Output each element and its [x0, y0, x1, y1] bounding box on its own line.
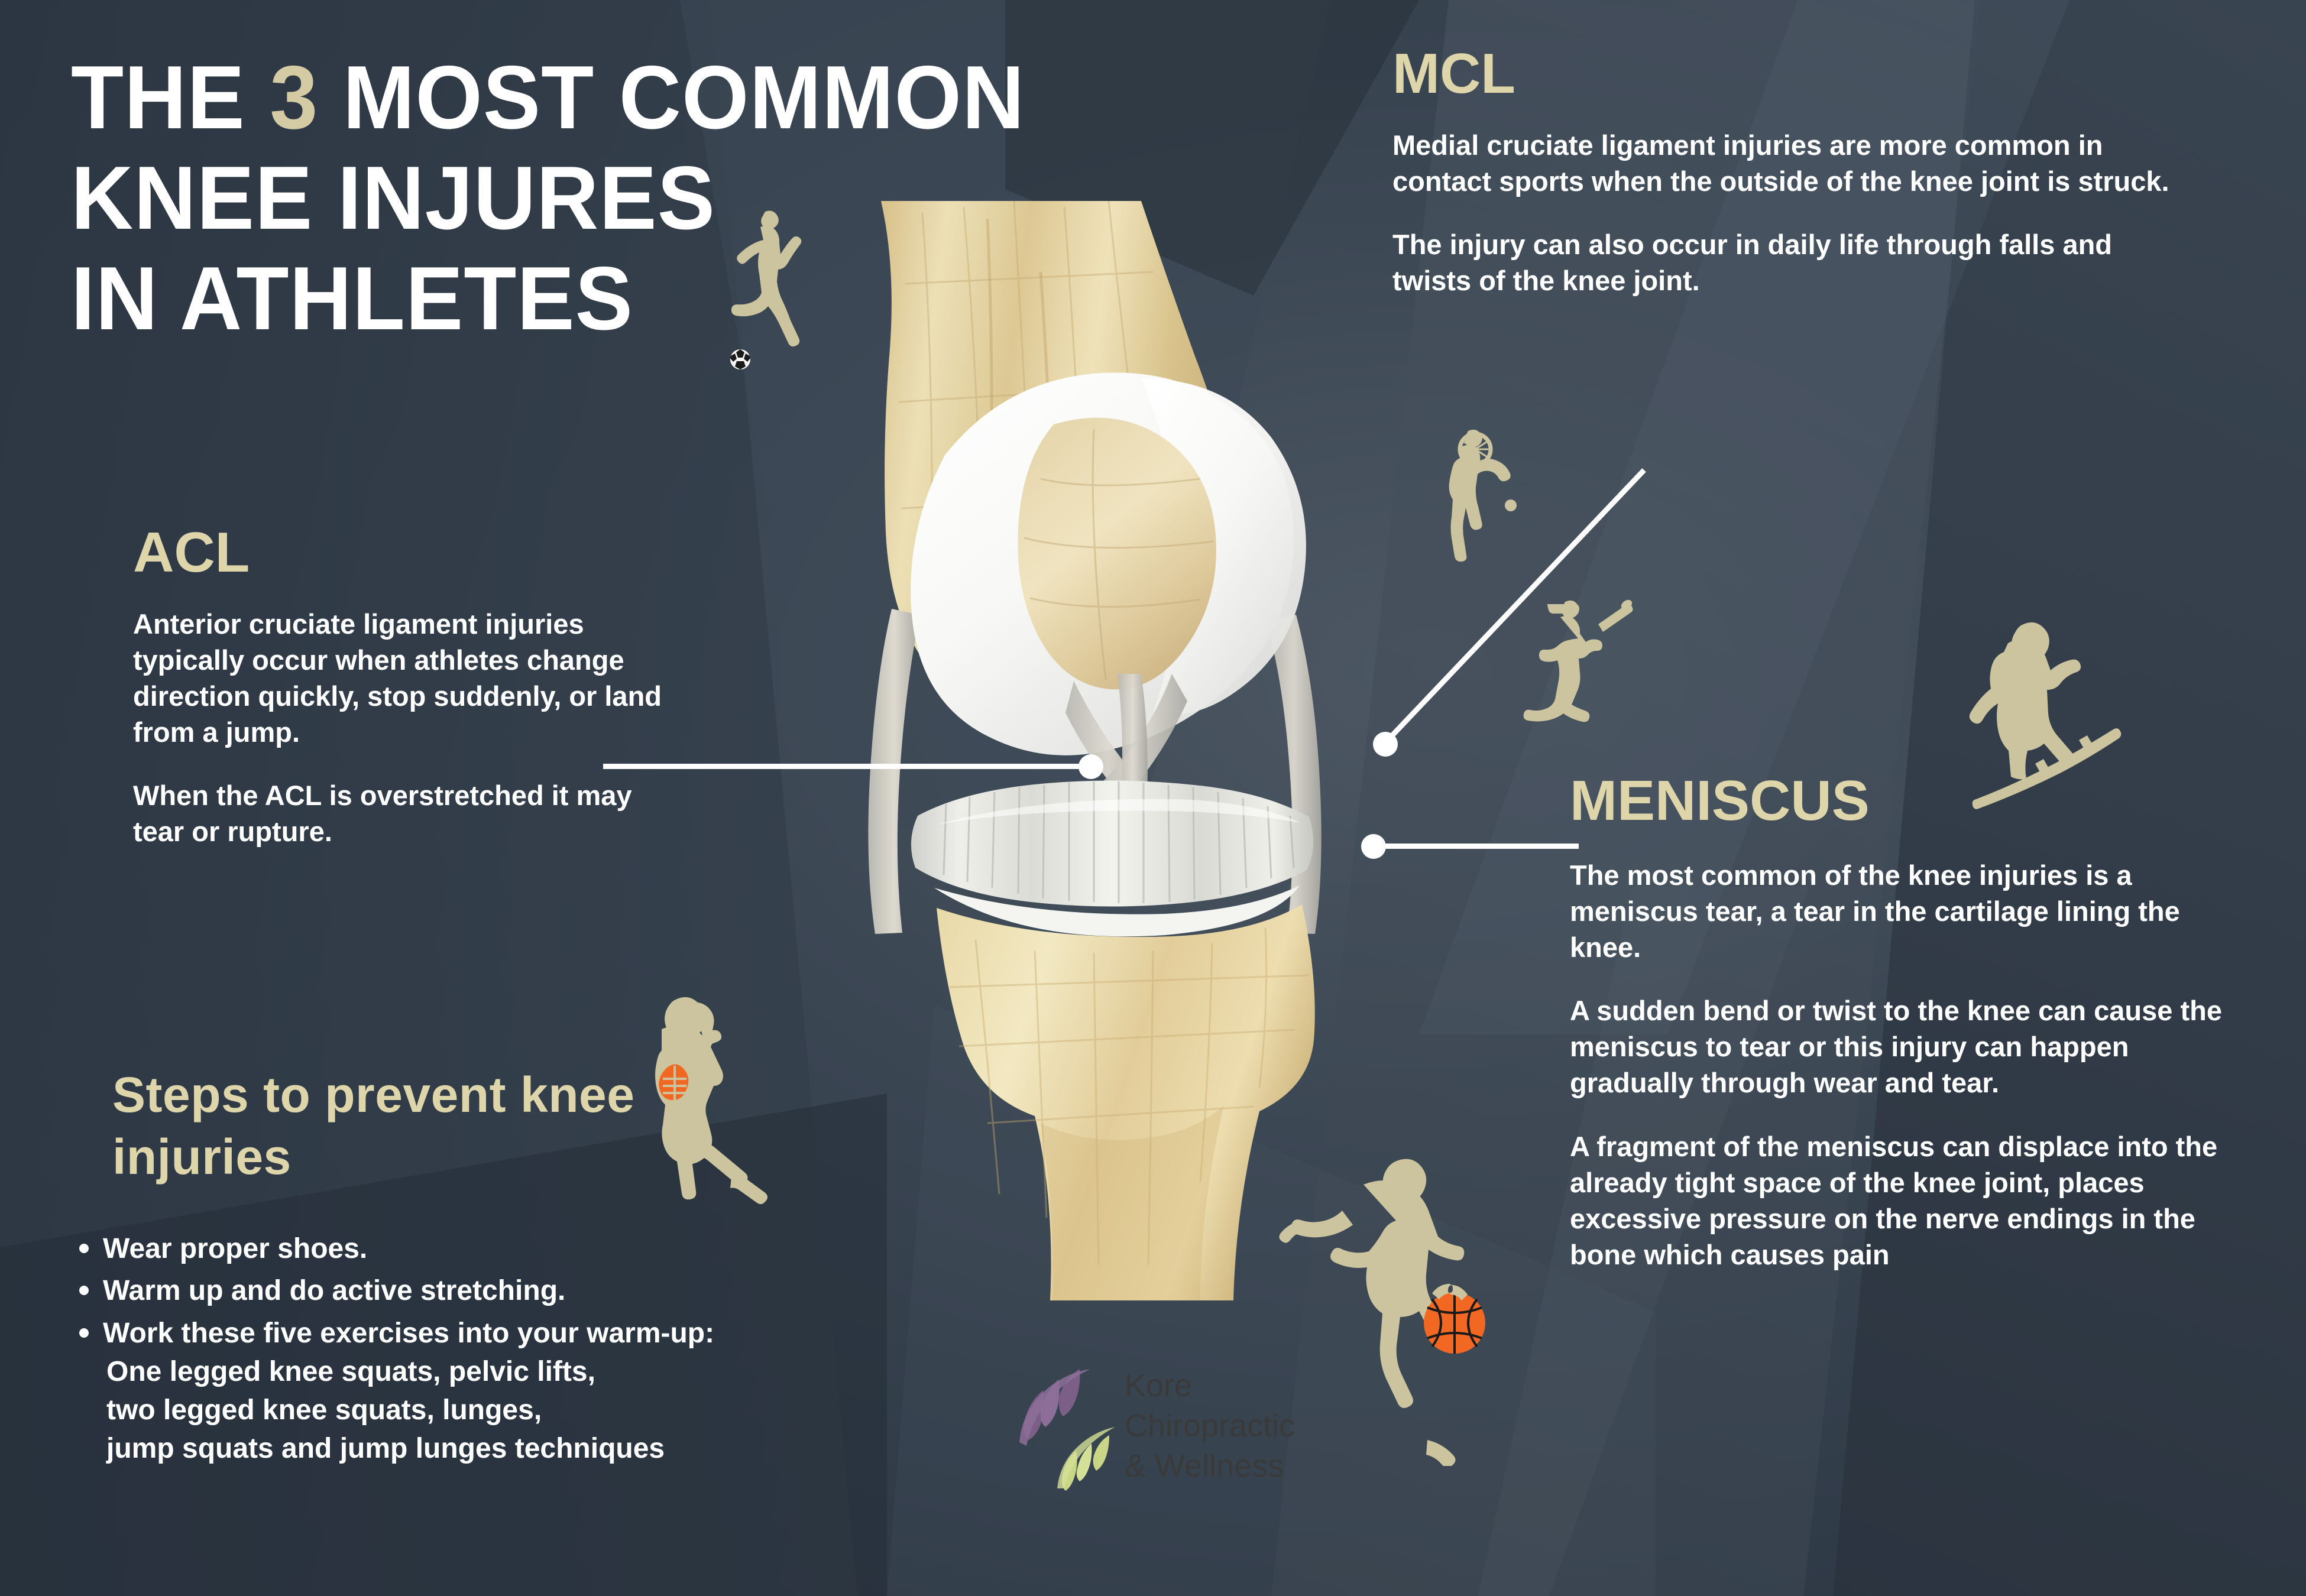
bullet-icon: [79, 1328, 89, 1338]
logo-line-2: Chiropractic: [1125, 1408, 1295, 1443]
list-item-label: Work these five exercises into your warm…: [103, 1318, 714, 1349]
title-line-1: THE 3 MOST COMMON: [71, 47, 1025, 148]
acl-heading: ACL: [133, 520, 250, 585]
logo-line-1: Kore: [1125, 1368, 1192, 1403]
logo-mark-purple: [1019, 1369, 1090, 1446]
logo-mark-green: [1057, 1427, 1115, 1491]
acl-leader-dot: [1078, 754, 1103, 779]
logo-line-3: & Wellness: [1125, 1448, 1284, 1484]
football-player-silhouette: [636, 990, 778, 1250]
prevention-list: Wear proper shoes. Warm up and do active…: [70, 1230, 909, 1472]
meniscus-paragraph-2: A sudden bend or twist to the knee can c…: [1570, 992, 2232, 1101]
bullet-icon: [79, 1244, 89, 1253]
meniscus-paragraph-1: The most common of the knee injuries is …: [1570, 857, 2232, 965]
acl-paragraph-2: When the ACL is overstretched it may tea…: [133, 777, 665, 849]
title-line-1-prefix: THE: [71, 47, 270, 148]
mcl-heading: MCL: [1392, 41, 1515, 106]
meniscus-body-text: The most common of the knee injuries is …: [1570, 857, 2232, 1273]
list-item-label: Warm up and do active stretching.: [103, 1275, 565, 1306]
title-line-2: KNEE INJURES: [71, 148, 715, 248]
meniscus-heading: MENISCUS: [1570, 768, 1870, 833]
meniscus-leader-line: [1372, 844, 1579, 849]
patellar-tendon: [1118, 674, 1148, 799]
mcl-paragraph-1: Medial cruciate ligament injuries are mo…: [1392, 127, 2185, 199]
acl-paragraph-1: Anterior cruciate ligament injuries typi…: [133, 606, 665, 750]
bullet-icon: [79, 1286, 89, 1295]
acl-body-text: Anterior cruciate ligament injuries typi…: [133, 606, 665, 850]
list-item: Work these five exercises into your warm…: [70, 1314, 909, 1468]
baseball-batter-silhouette: [1511, 591, 1662, 742]
infographic-poster: THE 3 MOST COMMON KNEE INJURES IN ATHLET…: [0, 0, 2306, 1596]
list-item: Wear proper shoes.: [70, 1230, 909, 1268]
prevention-heading: Steps to prevent knee injuries: [112, 1064, 644, 1188]
title-line-1-suffix: MOST COMMON: [318, 47, 1025, 148]
meniscus-paragraph-3: A fragment of the meniscus can displace …: [1570, 1128, 2232, 1273]
list-item-sub-line: One legged knee squats, pelvic lifts,: [103, 1352, 909, 1391]
mcl-leader-dot: [1373, 732, 1398, 757]
kore-chiropractic-logo: Kore Chiropractic & Wellness: [1011, 1360, 1319, 1496]
acl-leader-line: [603, 764, 1091, 769]
snowboarder-silhouette: [1951, 591, 2149, 810]
knee-joint-anatomy-illustration: [786, 201, 1431, 1300]
meniscus: [911, 780, 1313, 906]
medial-collateral-ligament: [868, 609, 920, 934]
title-number: 3: [270, 47, 318, 148]
lateral-collateral-ligament: [1267, 615, 1322, 934]
list-item: Warm up and do active stretching.: [70, 1271, 909, 1310]
list-item-label: Wear proper shoes.: [103, 1233, 367, 1264]
list-item-sub-line: jump squats and jump lunges techniques: [103, 1429, 909, 1468]
list-item-sub-line: two legged knee squats, lunges,: [103, 1391, 909, 1429]
tennis-player-silhouette: [1434, 423, 1543, 594]
meniscus-leader-dot: [1361, 834, 1386, 859]
mcl-body-text: Medial cruciate ligament injuries are mo…: [1392, 127, 2185, 299]
title-line-3: IN ATHLETES: [71, 248, 633, 349]
soccer-player-silhouette: [704, 201, 816, 372]
mcl-paragraph-2: The injury can also occur in daily life …: [1392, 226, 2185, 299]
